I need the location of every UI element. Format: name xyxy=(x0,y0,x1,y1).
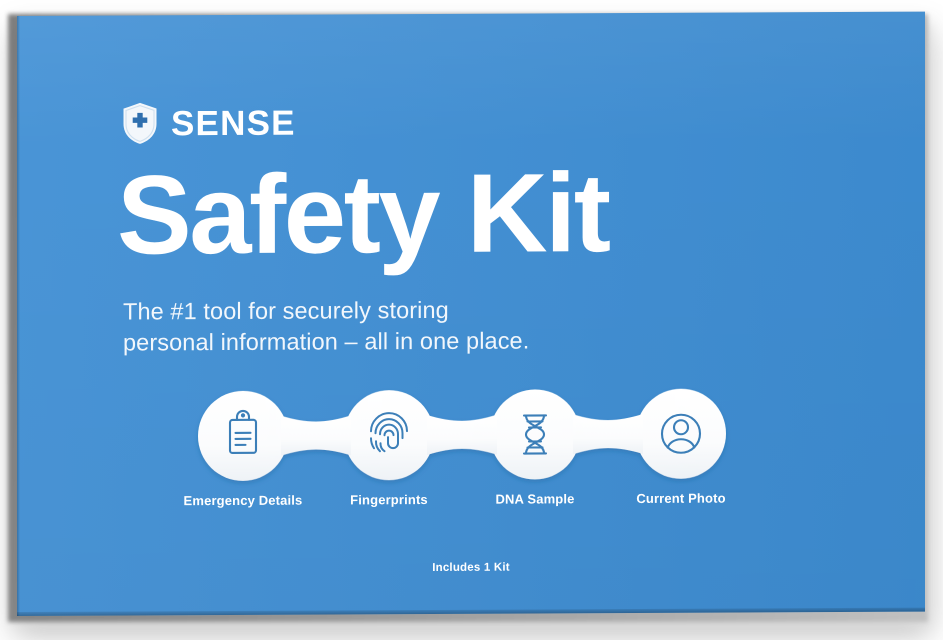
page-title: Safety Kit xyxy=(117,157,609,271)
feature-labels: Emergency Details Fingerprints DNA Sampl… xyxy=(197,490,757,513)
feature-label-fingerprints: Fingerprints xyxy=(350,492,428,507)
brand-name: SENSE xyxy=(171,105,296,141)
shield-plus-icon xyxy=(121,101,159,145)
box-artwork: SENSE Safety Kit The #1 tool for securel… xyxy=(17,12,925,616)
feature-chain xyxy=(197,385,757,484)
subtitle-line-2: personal information – all in one place. xyxy=(123,326,529,359)
feature-label-current-photo: Current Photo xyxy=(636,491,725,506)
includes-note: Includes 1 Kit xyxy=(17,560,925,576)
brand-lockup: SENSE xyxy=(121,101,296,146)
feature-label-emergency-details: Emergency Details xyxy=(184,493,303,509)
subtitle-line-1: The #1 tool for securely storing xyxy=(123,294,529,327)
product-packaging-photo: SENSE Safety Kit The #1 tool for securel… xyxy=(0,0,943,640)
subtitle: The #1 tool for securely storing persona… xyxy=(123,294,529,358)
feature-label-dna-sample: DNA Sample xyxy=(495,491,574,506)
chain-blob-shape xyxy=(198,389,726,482)
box-front-face: SENSE Safety Kit The #1 tool for securel… xyxy=(17,12,925,616)
